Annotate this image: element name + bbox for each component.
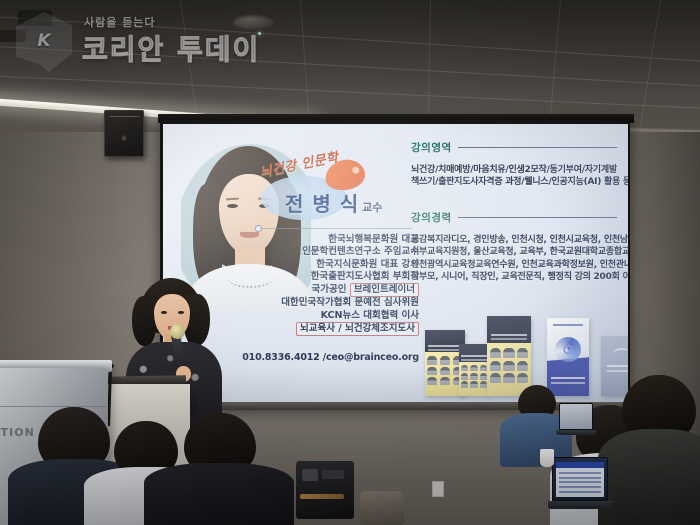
credential-item: KCN뉴스 대회협력 이사	[223, 310, 419, 322]
credential-item: 한국뇌행복문화원 대표	[223, 234, 419, 246]
credential-item: 대한민국작가협회 문예전 심사위원	[223, 297, 419, 309]
section-line: 학부모, 시니어, 직장인, 교육전문직, 행정직 강의 200회 이상	[411, 271, 617, 283]
microphone-head	[170, 324, 185, 339]
section-line: 인천광역시교육청교육연수원, 인천교육과학정보원, 인천관내학교 등	[411, 259, 617, 271]
section-line: 뇌건강/치매예방/마음치유/인생2모작/동기부여/자기계발	[411, 164, 617, 176]
section-body-lecture-career: 공감복지라디오, 경인방송, 인천시청, 인천시교육청, 인천남부/북부/동 서…	[411, 234, 617, 284]
credential-item: 한국출판지도사협회 부회장	[223, 271, 419, 283]
book-dark-small	[459, 344, 489, 396]
speaker-name-text: 전 병 식	[285, 192, 359, 216]
wall-switch-plate	[432, 481, 444, 497]
slide-speaker-name: 전 병 식교수	[285, 188, 382, 217]
wooden-pointer	[300, 494, 344, 499]
credential-item: 국가공인 브레인트레이너	[223, 283, 419, 297]
channel-watermark: K 사람을 듣는다 코리안 투데이	[12, 6, 262, 76]
section-line: 서부교육지원청, 울산교육청, 교육부, 한국교원대학교종합교육연수원,	[411, 246, 617, 258]
section-line: 책쓰기/출판지도사자격증 과정/웰니스/인공지능(AI) 활용 등	[411, 176, 617, 188]
logo-letter: K	[30, 26, 58, 56]
presentation-slide: 뇌건강 인문학 전 병 식교수 한국뇌행복문화원 대표인문학컨텐츠연구소 주임교…	[163, 124, 628, 402]
section-rule	[458, 217, 617, 218]
audience-member-center	[150, 413, 286, 525]
audience-laptop-right[interactable]	[548, 457, 612, 515]
watermark-brand: 코리안 투데이	[82, 28, 260, 68]
book-yellow-tall	[487, 316, 531, 396]
section-body-lecture-areas: 뇌건강/치매예방/마음치유/인생2모작/동기부여/자기계발 책쓰기/출판지도사자…	[411, 164, 617, 189]
audience-laptop-back[interactable]	[556, 403, 596, 439]
backpack	[360, 491, 404, 525]
section-line: 공감복지라디오, 경인방송, 인천시청, 인천시교육청, 인천남부/북부/동	[411, 234, 617, 246]
equipment-knob	[302, 469, 318, 481]
slide-section-lecture-areas: 강의영역 뇌건강/치매예방/마음치유/인생2모작/동기부여/자기계발 책쓰기/출…	[411, 140, 617, 189]
credential-divider-line	[260, 228, 412, 229]
credential-highlight: 브레인트레이너	[350, 283, 419, 297]
slide-section-lecture-career: 강의경력 공감복지라디오, 경인방송, 인천시청, 인천시교육청, 인천남부/북…	[411, 210, 617, 284]
slide-contact-line: 010.8336.4012 /ceo@brainceo.org	[223, 352, 419, 363]
section-title-lecture-career: 강의경력	[411, 210, 452, 225]
lecture-hall-photo: 뇌건강 인문학 전 병 식교수 한국뇌행복문화원 대표인문학컨텐츠연구소 주임교…	[0, 0, 700, 525]
credential-item: 뇌교육사 / 뇌건강체조지도사	[223, 322, 419, 336]
speaker-title-text: 교수	[362, 201, 382, 214]
slide-book-covers	[425, 310, 625, 396]
wall-speaker-box	[104, 110, 144, 157]
korean-today-hex-logo: K	[16, 12, 72, 72]
credential-highlight: 뇌교육사 / 뇌건강체조지도사	[296, 322, 419, 336]
credential-item: 인문학컨텐츠연구소 주임교수	[223, 246, 419, 258]
audience-member-right-2	[612, 375, 700, 525]
credential-item: 한국지식문화원 대표 강사	[223, 259, 419, 271]
section-title-lecture-areas: 강의영역	[411, 140, 452, 155]
section-rule	[458, 147, 617, 148]
equipment-panel	[322, 470, 344, 479]
credential-list: 한국뇌행복문화원 대표인문학컨텐츠연구소 주임교수한국지식문화원 대표 강사한국…	[223, 234, 419, 336]
paper-cup	[540, 449, 554, 467]
